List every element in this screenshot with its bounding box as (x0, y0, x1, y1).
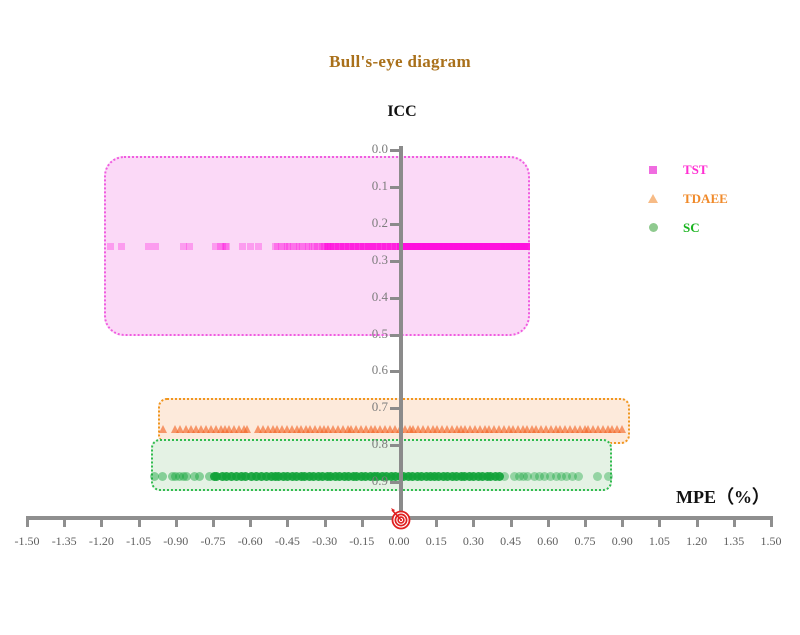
y-tick-label: 0.8 (350, 436, 388, 452)
bullseye-chart: Bull's-eye diagram ICC MPE（%） 0.00.10.20… (0, 0, 800, 635)
legend-label-tst: TST (683, 162, 708, 178)
y-axis-line (399, 146, 403, 516)
legend-item-tdaee[interactable]: TDAEE (640, 184, 728, 213)
x-tick (770, 516, 773, 527)
chart-title: Bull's-eye diagram (0, 52, 800, 72)
y-tick (390, 481, 400, 484)
y-tick-label: 0.9 (350, 473, 388, 489)
y-tick (390, 149, 400, 152)
x-tick (547, 516, 550, 527)
y-tick (390, 297, 400, 300)
y-tick-label: 0.7 (350, 399, 388, 415)
y-tick-label: 0.3 (350, 252, 388, 268)
bullseye-target-icon (388, 505, 414, 531)
x-tick (733, 516, 736, 527)
x-tick (138, 516, 141, 527)
x-tick (696, 516, 699, 527)
x-tick (26, 516, 29, 527)
tdaee-triangle-icon (640, 194, 666, 203)
x-tick (175, 516, 178, 527)
x-tick (63, 516, 66, 527)
x-tick (212, 516, 215, 527)
y-tick-label: 0.1 (350, 178, 388, 194)
tst-square-icon (640, 166, 666, 174)
y-tick-label: 0.2 (350, 215, 388, 231)
x-tick (472, 516, 475, 527)
x-tick (435, 516, 438, 527)
y-tick-label: 0.0 (350, 141, 388, 157)
legend-item-sc[interactable]: SC (640, 213, 728, 242)
group-region-tst (104, 156, 531, 336)
y-tick-label: 0.5 (350, 326, 388, 342)
x-tick (286, 516, 289, 527)
y-tick-label: 0.4 (350, 289, 388, 305)
x-tick (658, 516, 661, 527)
y-tick (390, 186, 400, 189)
y-tick (390, 334, 400, 337)
sc-circle-icon (640, 223, 666, 232)
y-tick (390, 370, 400, 373)
legend: TST TDAEE SC (640, 155, 728, 242)
y-tick (390, 407, 400, 410)
x-tick (361, 516, 364, 527)
group-region-tdaee (158, 398, 629, 444)
x-tick-label: 1.50 (743, 534, 799, 549)
y-axis-title: ICC (340, 103, 464, 121)
x-tick (249, 516, 252, 527)
y-tick (390, 223, 400, 226)
y-tick (390, 444, 400, 447)
y-tick (390, 260, 400, 263)
legend-item-tst[interactable]: TST (640, 155, 728, 184)
legend-label-sc: SC (683, 220, 700, 236)
y-tick-label: 0.6 (350, 362, 388, 378)
x-tick (324, 516, 327, 527)
legend-label-tdaee: TDAEE (683, 191, 728, 207)
x-tick (100, 516, 103, 527)
x-tick (510, 516, 513, 527)
x-axis-title: MPE（%） (676, 483, 770, 509)
x-tick (584, 516, 587, 527)
x-tick (621, 516, 624, 527)
